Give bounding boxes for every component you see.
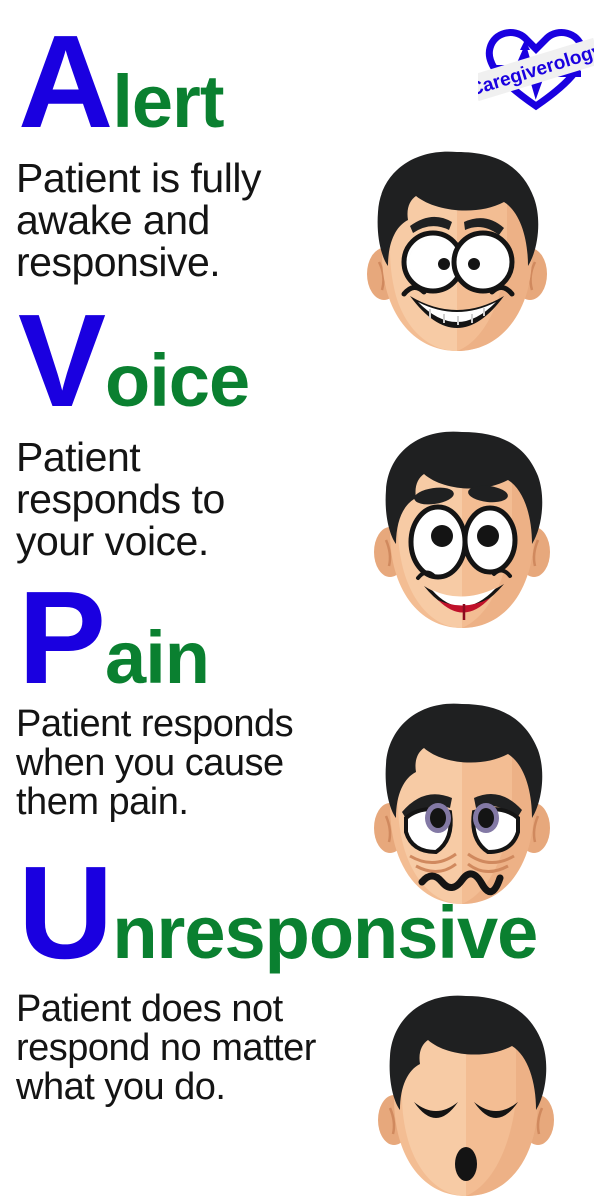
- heading-rest-unresponsive: nresponsive: [112, 891, 537, 974]
- mouth: [455, 1147, 477, 1181]
- heading-voice: Voice: [18, 295, 249, 427]
- description-line: respond no matter: [16, 1029, 316, 1068]
- eye-right: [454, 233, 512, 291]
- talking-voice-face: [362, 428, 562, 638]
- pupil-left: [431, 525, 453, 547]
- pupil-left: [438, 258, 450, 270]
- description-line: responsive.: [16, 242, 261, 284]
- heading-rest-pain: ain: [105, 616, 209, 699]
- avpu-poster: Caregiverology Alert Patient is fully aw…: [0, 0, 600, 1200]
- description-line: Patient does not: [16, 990, 316, 1029]
- heading-rest-alert: lert: [112, 60, 223, 143]
- pupil-right: [477, 525, 499, 547]
- heading-unresponsive: Unresponsive: [18, 847, 537, 979]
- description-line: Patient responds: [16, 705, 293, 744]
- description-line: awake and: [16, 200, 261, 242]
- description-line: responds to: [16, 479, 225, 521]
- description-pain: Patient responds when you cause them pai…: [16, 705, 293, 821]
- description-voice: Patient responds to your voice.: [16, 437, 225, 562]
- description-unresponsive: Patient does not respond no matter what …: [16, 990, 316, 1106]
- description-line: when you cause: [16, 744, 293, 783]
- caregiverology-logo[interactable]: Caregiverology: [478, 18, 594, 114]
- pupil-left: [430, 808, 446, 828]
- heading-letter-p: P: [18, 564, 105, 711]
- heading-alert: Alert: [18, 16, 223, 148]
- unconscious-face: [366, 994, 566, 1200]
- description-line: them pain.: [16, 783, 293, 822]
- description-alert: Patient is fully awake and responsive.: [16, 158, 261, 283]
- description-line: your voice.: [16, 521, 225, 563]
- heading-letter-u: U: [18, 839, 112, 986]
- pupil-right: [468, 258, 480, 270]
- pupil-right: [478, 808, 494, 828]
- description-line: Patient is fully: [16, 158, 261, 200]
- smiling-alert-face: [352, 146, 562, 361]
- heading-letter-a: A: [18, 8, 112, 155]
- heading-letter-v: V: [18, 287, 105, 434]
- heading-rest-voice: oice: [105, 339, 249, 422]
- description-line: Patient: [16, 437, 225, 479]
- heading-pain: Pain: [18, 572, 209, 704]
- description-line: what you do.: [16, 1068, 316, 1107]
